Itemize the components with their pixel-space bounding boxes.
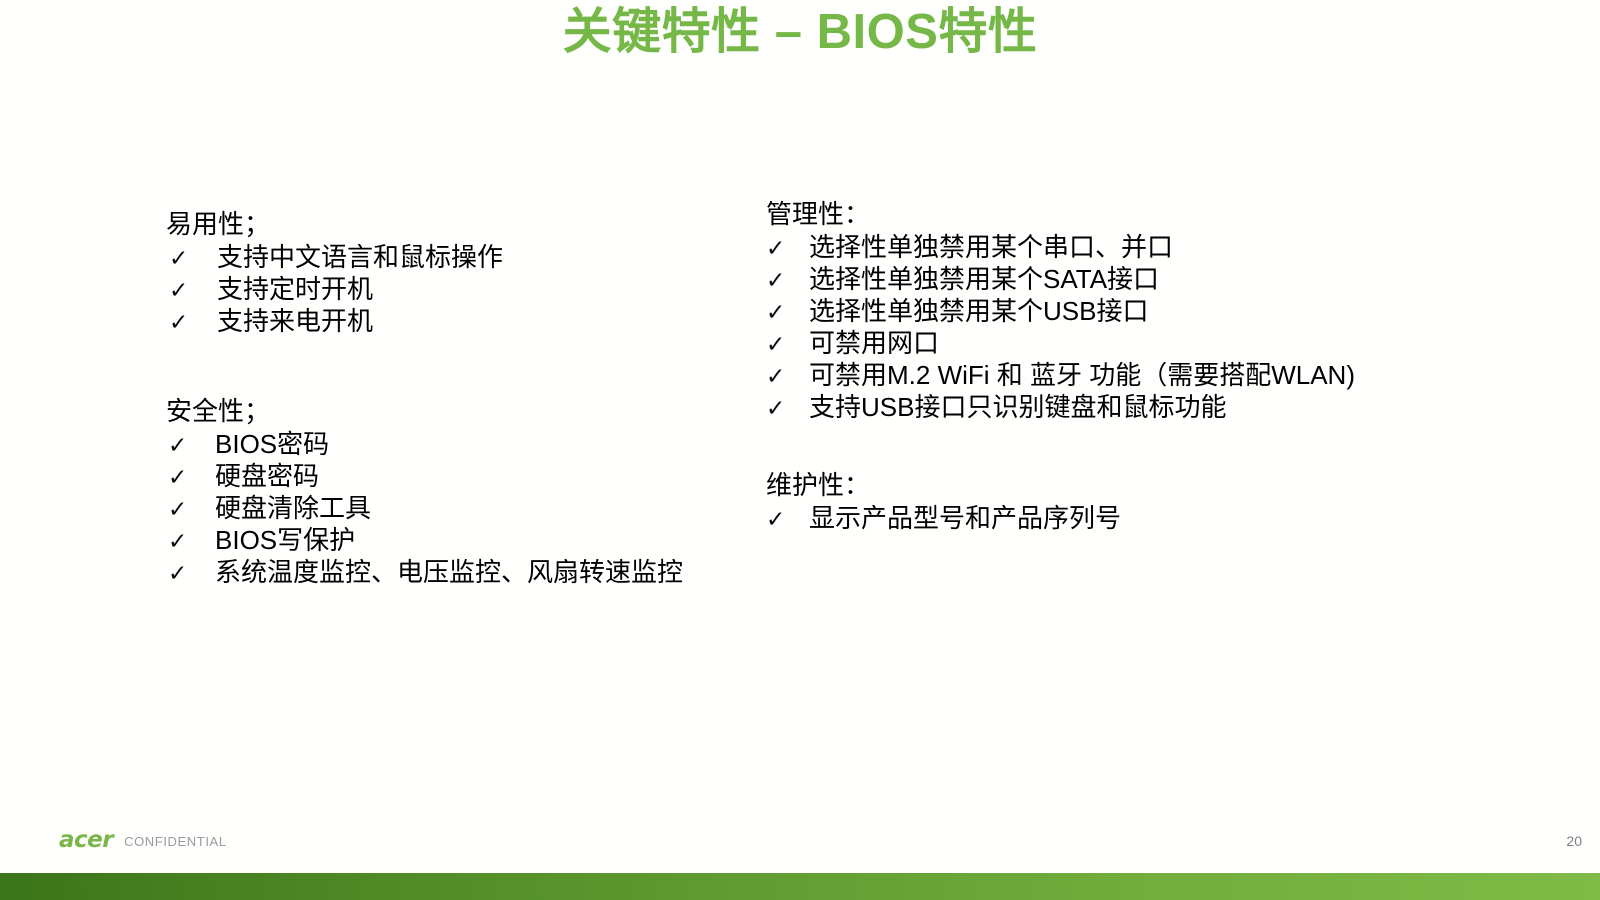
- check-icon: ✓: [766, 504, 809, 535]
- footer-branding: acer CONFIDENTIAL: [59, 829, 227, 852]
- security-list: ✓ BIOS密码 ✓ 硬盘密码 ✓ 硬盘清除工具 ✓ BIOS写保护 ✓ 系: [166, 429, 766, 589]
- group-manageability: 管理性： ✓ 选择性单独禁用某个串口、并口 ✓ 选择性单独禁用某个SATA接口 …: [766, 196, 1546, 424]
- list-item: ✓ 硬盘清除工具: [166, 493, 766, 525]
- check-icon: ✓: [766, 265, 809, 296]
- group-heading-usability: 易用性；: [166, 206, 766, 242]
- footer-accent-bar: [0, 873, 1600, 900]
- list-item: ✓ 硬盘密码: [166, 461, 766, 493]
- list-item: ✓ BIOS写保护: [166, 525, 766, 557]
- list-item-label: 支持USB接口只识别键盘和鼠标功能: [809, 392, 1226, 423]
- list-item-label: 选择性单独禁用某个SATA接口: [809, 264, 1159, 295]
- section-spacer: [166, 338, 766, 393]
- check-icon: ✓: [766, 361, 809, 392]
- check-icon: ✓: [766, 297, 809, 328]
- list-item-label: 选择性单独禁用某个串口、并口: [809, 232, 1173, 263]
- acer-logo: acer: [59, 829, 113, 852]
- group-usability: 易用性； ✓ 支持中文语言和鼠标操作 ✓ 支持定时开机 ✓ 支持来电开机: [166, 206, 766, 338]
- list-item: ✓ BIOS密码: [166, 429, 766, 461]
- page-title: 关键特性 – BIOS特性: [0, 4, 1600, 62]
- check-icon: ✓: [166, 462, 215, 493]
- check-icon: ✓: [166, 307, 217, 338]
- check-icon: ✓: [166, 243, 217, 274]
- list-item-label: 硬盘密码: [215, 461, 319, 492]
- list-item: ✓ 系统温度监控、电压监控、风扇转速监控: [166, 557, 766, 589]
- check-icon: ✓: [766, 329, 809, 360]
- check-icon: ✓: [166, 526, 215, 557]
- right-content-column: 管理性： ✓ 选择性单独禁用某个串口、并口 ✓ 选择性单独禁用某个SATA接口 …: [766, 196, 1546, 535]
- usability-list: ✓ 支持中文语言和鼠标操作 ✓ 支持定时开机 ✓ 支持来电开机: [166, 242, 766, 338]
- group-heading-security: 安全性；: [166, 393, 766, 429]
- group-serviceability: 维护性： ✓ 显示产品型号和产品序列号: [766, 467, 1546, 535]
- list-item: ✓ 支持USB接口只识别键盘和鼠标功能: [766, 392, 1546, 424]
- check-icon: ✓: [166, 430, 215, 461]
- list-item-label: 硬盘清除工具: [215, 493, 371, 524]
- check-icon: ✓: [766, 393, 809, 424]
- list-item-label: 支持定时开机: [217, 274, 373, 305]
- list-item-label: BIOS密码: [215, 429, 329, 460]
- manageability-list: ✓ 选择性单独禁用某个串口、并口 ✓ 选择性单独禁用某个SATA接口 ✓ 选择性…: [766, 232, 1546, 424]
- serviceability-list: ✓ 显示产品型号和产品序列号: [766, 503, 1546, 535]
- check-icon: ✓: [166, 494, 215, 525]
- group-heading-manageability: 管理性：: [766, 196, 1546, 232]
- list-item: ✓ 显示产品型号和产品序列号: [766, 503, 1546, 535]
- section-spacer: [766, 424, 1546, 467]
- list-item: ✓ 支持来电开机: [166, 306, 766, 338]
- list-item: ✓ 支持定时开机: [166, 274, 766, 306]
- check-icon: ✓: [766, 233, 809, 264]
- left-content-column: 易用性； ✓ 支持中文语言和鼠标操作 ✓ 支持定时开机 ✓ 支持来电开机 安全性…: [166, 206, 766, 589]
- group-security: 安全性； ✓ BIOS密码 ✓ 硬盘密码 ✓ 硬盘清除工具 ✓ BIOS写保护: [166, 393, 766, 589]
- list-item: ✓ 选择性单独禁用某个USB接口: [766, 296, 1546, 328]
- list-item: ✓ 选择性单独禁用某个SATA接口: [766, 264, 1546, 296]
- list-item-label: 显示产品型号和产品序列号: [809, 503, 1121, 534]
- list-item-label: BIOS写保护: [215, 525, 355, 556]
- list-item-label: 可禁用网口: [809, 328, 939, 359]
- page-number: 20: [1566, 834, 1582, 848]
- list-item-label: 系统温度监控、电压监控、风扇转速监控: [215, 557, 683, 588]
- list-item-label: 支持中文语言和鼠标操作: [217, 242, 503, 273]
- list-item: ✓ 可禁用M.2 WiFi 和 蓝牙 功能（需要搭配WLAN): [766, 360, 1546, 392]
- list-item: ✓ 可禁用网口: [766, 328, 1546, 360]
- check-icon: ✓: [166, 275, 217, 306]
- list-item: ✓ 支持中文语言和鼠标操作: [166, 242, 766, 274]
- slide-canvas: 关键特性 – BIOS特性 易用性； ✓ 支持中文语言和鼠标操作 ✓ 支持定时开…: [0, 0, 1600, 900]
- list-item: ✓ 选择性单独禁用某个串口、并口: [766, 232, 1546, 264]
- group-heading-serviceability: 维护性：: [766, 467, 1546, 503]
- list-item-label: 支持来电开机: [217, 306, 373, 337]
- list-item-label: 选择性单独禁用某个USB接口: [809, 296, 1148, 327]
- confidential-label: CONFIDENTIAL: [124, 835, 227, 848]
- list-item-label: 可禁用M.2 WiFi 和 蓝牙 功能（需要搭配WLAN): [809, 360, 1355, 391]
- check-icon: ✓: [166, 558, 215, 589]
